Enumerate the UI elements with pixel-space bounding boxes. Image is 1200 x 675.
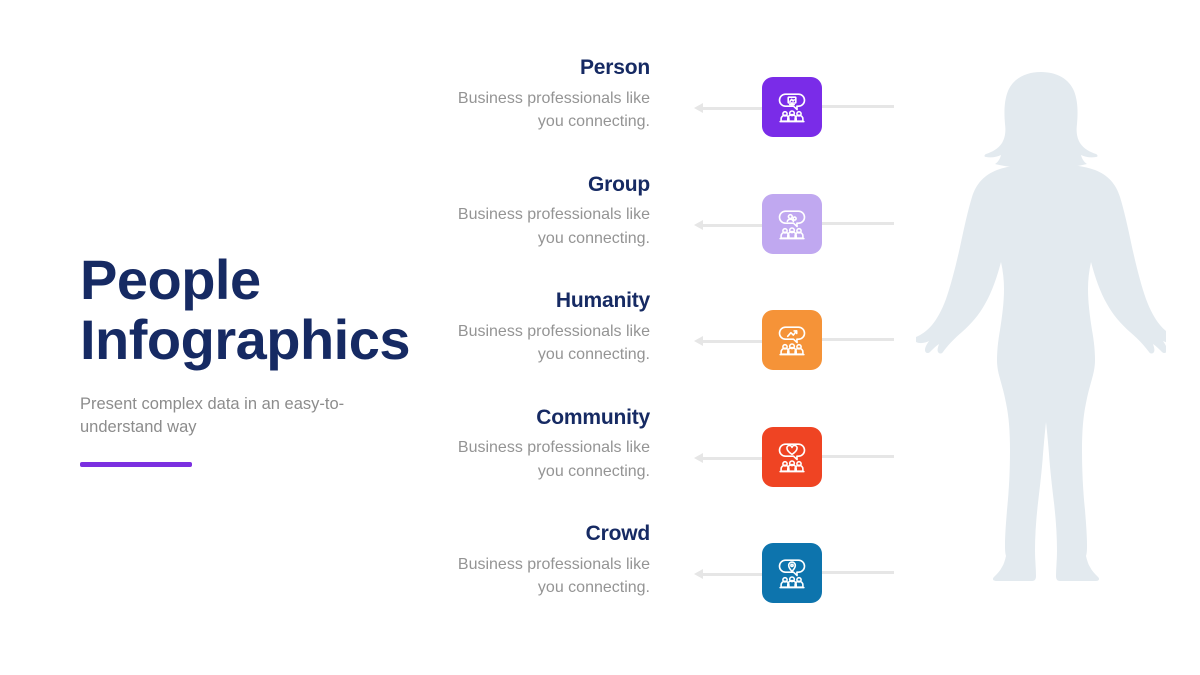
item-text-block: PersonBusiness professionals like you co… — [440, 56, 650, 134]
item-row[interactable]: CommunityBusiness professionals like you… — [440, 406, 900, 522]
connector-arrow-left-icon — [694, 569, 762, 579]
female-body-silhouette — [916, 70, 1166, 600]
item-title: Person — [440, 56, 650, 81]
connector-arrow-left-icon — [694, 103, 762, 113]
item-text-block: HumanityBusiness professionals like you … — [440, 289, 650, 367]
item-description: Business professionals like you connecti… — [440, 87, 650, 134]
item-title: Community — [440, 406, 650, 431]
slide-canvas: People Infographics Present complex data… — [0, 0, 1200, 675]
connector-line-right — [822, 455, 894, 458]
item-text-block: CrowdBusiness professionals like you con… — [440, 522, 650, 600]
connector-line-right — [822, 571, 894, 574]
item-text-block: GroupBusiness professionals like you con… — [440, 173, 650, 251]
connector-arrow-left-icon — [694, 336, 762, 346]
item-title: Group — [440, 173, 650, 198]
connector-line-right — [822, 105, 894, 108]
people-pin-speech-bubble-icon[interactable] — [762, 543, 822, 603]
item-description: Business professionals like you connecti… — [440, 553, 650, 600]
item-description: Business professionals like you connecti… — [440, 203, 650, 250]
items-list: PersonBusiness professionals like you co… — [440, 0, 900, 675]
connector-line-right — [822, 222, 894, 225]
item-row[interactable]: CrowdBusiness professionals like you con… — [440, 522, 900, 638]
connector-line-right — [822, 338, 894, 341]
people-group-speech-bubble-icon[interactable] — [762, 194, 822, 254]
connector-arrow-left-icon — [694, 220, 762, 230]
connector-arrow-left-icon — [694, 453, 762, 463]
people-chart-speech-bubble-icon[interactable] — [762, 310, 822, 370]
page-subtitle: Present complex data in an easy-to-under… — [80, 393, 375, 440]
accent-rule — [80, 462, 192, 467]
item-title: Humanity — [440, 289, 650, 314]
people-heart-speech-bubble-icon[interactable] — [762, 427, 822, 487]
people-presentation-speech-bubble-icon[interactable] — [762, 77, 822, 137]
item-row[interactable]: PersonBusiness professionals like you co… — [440, 56, 900, 172]
title-block: People Infographics Present complex data… — [80, 250, 410, 467]
item-row[interactable]: GroupBusiness professionals like you con… — [440, 173, 900, 289]
item-title: Crowd — [440, 522, 650, 547]
page-title: People Infographics — [80, 250, 410, 371]
item-description: Business professionals like you connecti… — [440, 320, 650, 367]
item-text-block: CommunityBusiness professionals like you… — [440, 406, 650, 484]
item-description: Business professionals like you connecti… — [440, 436, 650, 483]
item-row[interactable]: HumanityBusiness professionals like you … — [440, 289, 900, 405]
